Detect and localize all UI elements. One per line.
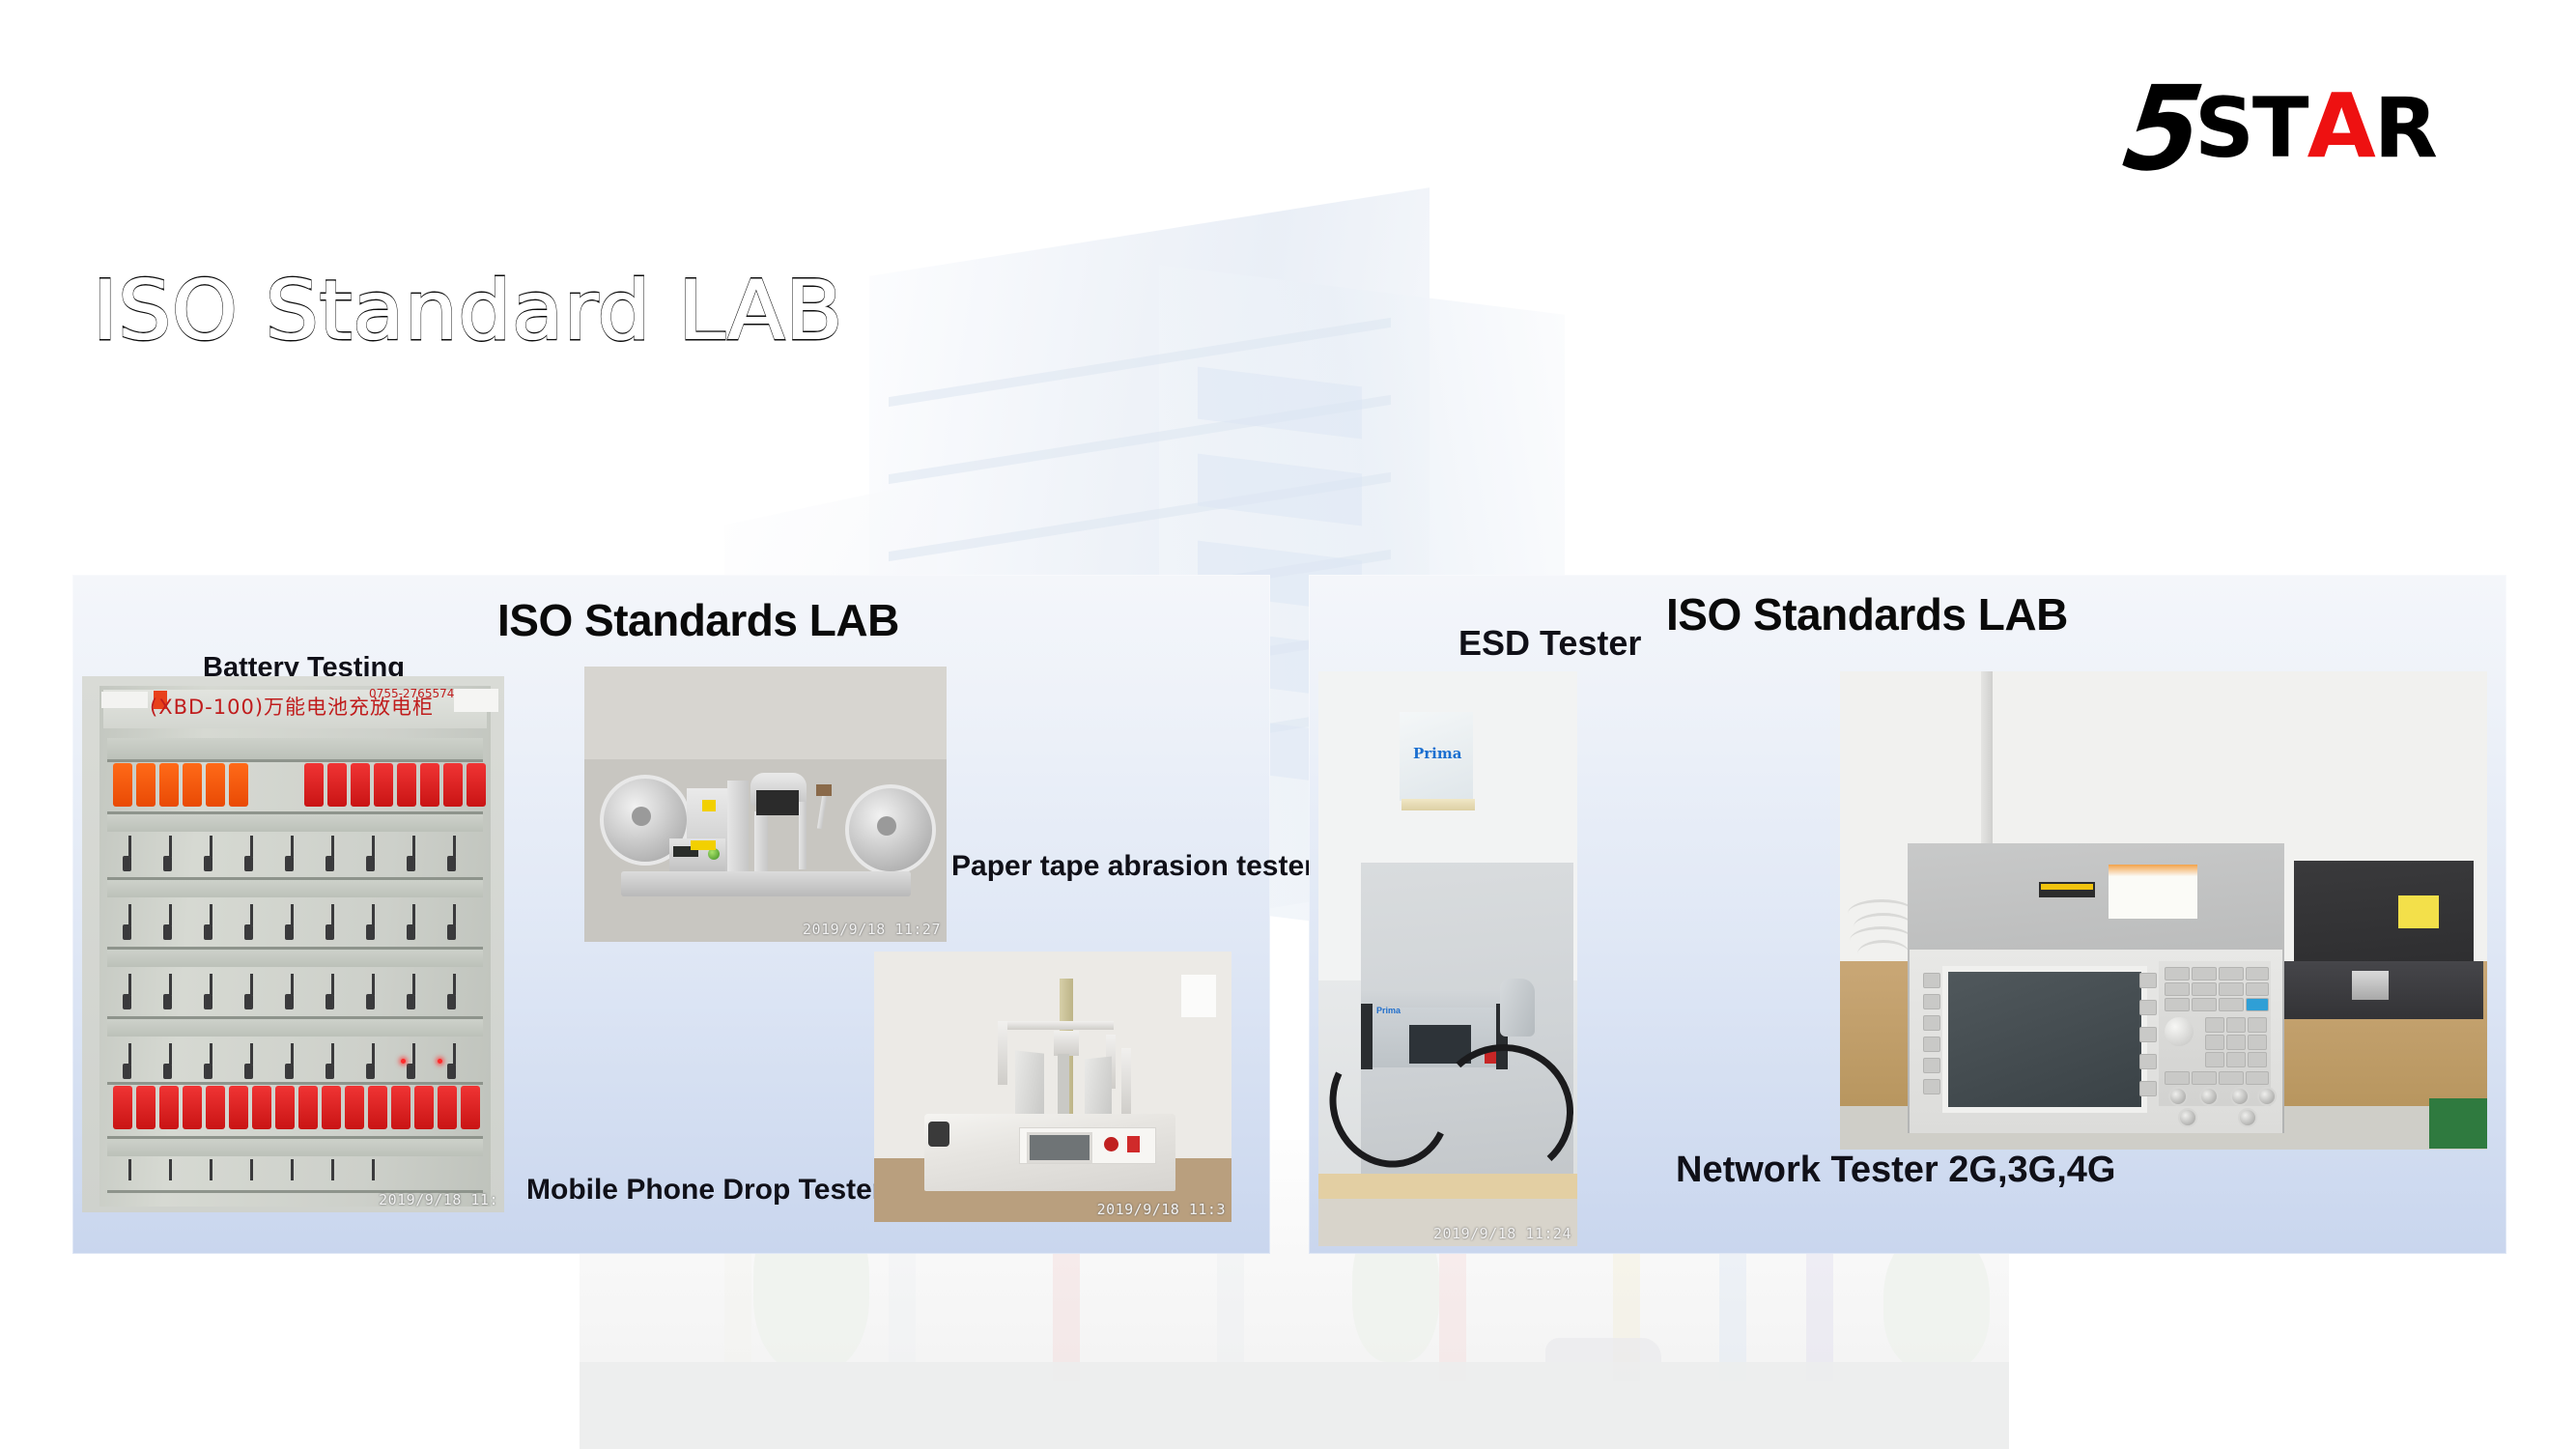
label-network-tester: Network Tester 2G,3G,4G [1676,1150,2115,1191]
watermark-ground [580,1362,2009,1449]
photo-timestamp: 2019/9/18 11:27 [803,921,941,938]
right-panel-heading: ISO Standards LAB [1666,588,2068,640]
photo-timestamp: 2019/9/18 11: [379,1191,498,1208]
photo-mobile-phone-drop-tester: 2019/9/18 11:3 [874,952,1231,1222]
label-paper-tape-abrasion-tester: Paper tape abrasion tester [951,850,1316,883]
label-mobile-phone-drop-tester: Mobile Phone Drop Tester [526,1174,883,1207]
esd-unit-brand-text: Prima [1376,1006,1401,1015]
photo-timestamp: 2019/9/18 11:24 [1433,1225,1571,1242]
logo-text-st: ST [2194,80,2307,177]
page-title-text: ISO Standard LAB [93,263,843,359]
right-content-panel: ISO Standards LAB ESD Tester Network Tes… [1309,575,2506,1254]
logo-letter-r: R [2374,80,2436,177]
photo-battery-testing-cabinet: (XBD-100)万能电池充放电柜 0755-27655740 [82,676,504,1212]
brand-logo-5star: 5STAR [2126,75,2436,184]
esd-plate-brand-text: Prima [1413,745,1461,762]
cabinet-banner-phone: 0755-27655740 [369,688,462,700]
photo-esd-tester: Prima ⌁ Prima 2019/9/18 11:24 [1318,671,1577,1246]
left-panel-heading: ISO Standards LAB [497,594,899,646]
caution-sticker [2039,882,2095,897]
photo-network-tester [1840,671,2487,1150]
left-content-panel: ISO Standards LAB Battery Testing Paper … [72,575,1270,1254]
label-esd-tester: ESD Tester [1458,623,1641,664]
photo-timestamp: 2019/9/18 11:3 [1097,1201,1226,1218]
photo-paper-tape-abrasion-tester: 2019/9/18 11:27 [584,667,947,942]
logo-letter-a-red: A [2307,74,2374,178]
page-title: ISO Standard LAB [93,263,843,359]
